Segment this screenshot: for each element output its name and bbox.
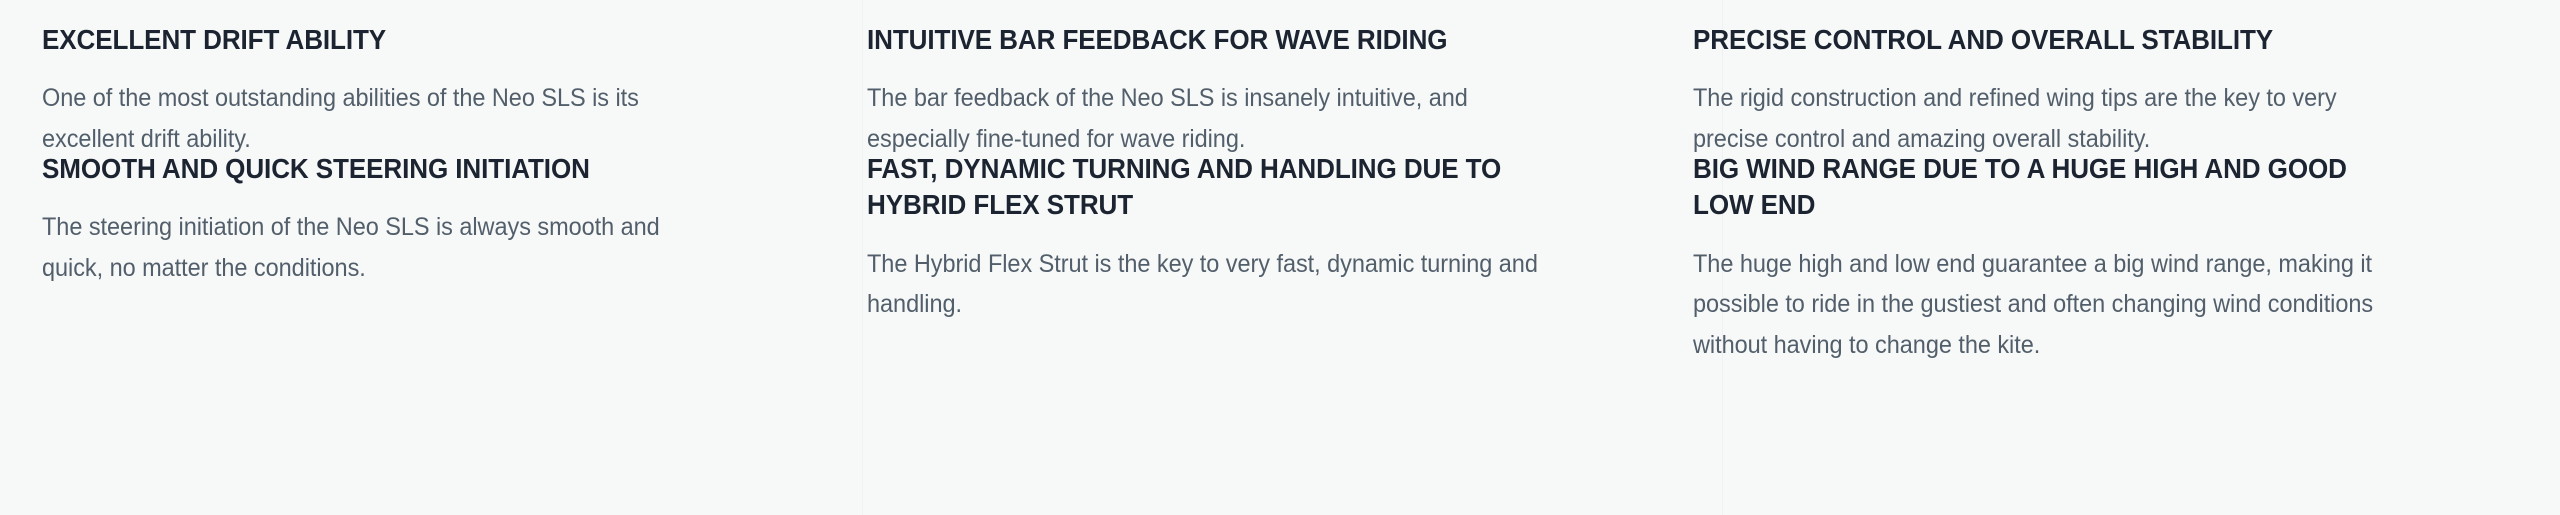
feature-item-fast-dynamic-turning: FAST, DYNAMIC TURNING AND HANDLING DUE T…	[867, 136, 1692, 515]
feature-title: SMOOTH AND QUICK STEERING INITIATION	[42, 151, 717, 187]
feature-description: The huge high and low end guarantee a bi…	[1693, 244, 2375, 366]
feature-description: The Hybrid Flex Strut is the key to very…	[867, 244, 1549, 325]
feature-item-precise-control: PRECISE CONTROL AND OVERALL STABILITY Th…	[1693, 0, 2518, 136]
feature-grid: EXCELLENT DRIFT ABILITY One of the most …	[0, 0, 2560, 515]
feature-title: FAST, DYNAMIC TURNING AND HANDLING DUE T…	[867, 151, 1542, 224]
feature-title: INTUITIVE BAR FEEDBACK FOR WAVE RIDING	[867, 22, 1542, 58]
feature-item-excellent-drift-ability: EXCELLENT DRIFT ABILITY One of the most …	[42, 0, 867, 136]
feature-item-big-wind-range: BIG WIND RANGE DUE TO A HUGE HIGH AND GO…	[1693, 136, 2518, 515]
feature-title: EXCELLENT DRIFT ABILITY	[42, 22, 717, 58]
feature-description: The steering initiation of the Neo SLS i…	[42, 207, 724, 288]
feature-item-intuitive-bar-feedback: INTUITIVE BAR FEEDBACK FOR WAVE RIDING T…	[867, 0, 1692, 136]
feature-title: BIG WIND RANGE DUE TO A HUGE HIGH AND GO…	[1693, 151, 2368, 224]
feature-item-smooth-steering-initiation: SMOOTH AND QUICK STEERING INITIATION The…	[42, 136, 867, 515]
feature-title: PRECISE CONTROL AND OVERALL STABILITY	[1693, 22, 2368, 58]
